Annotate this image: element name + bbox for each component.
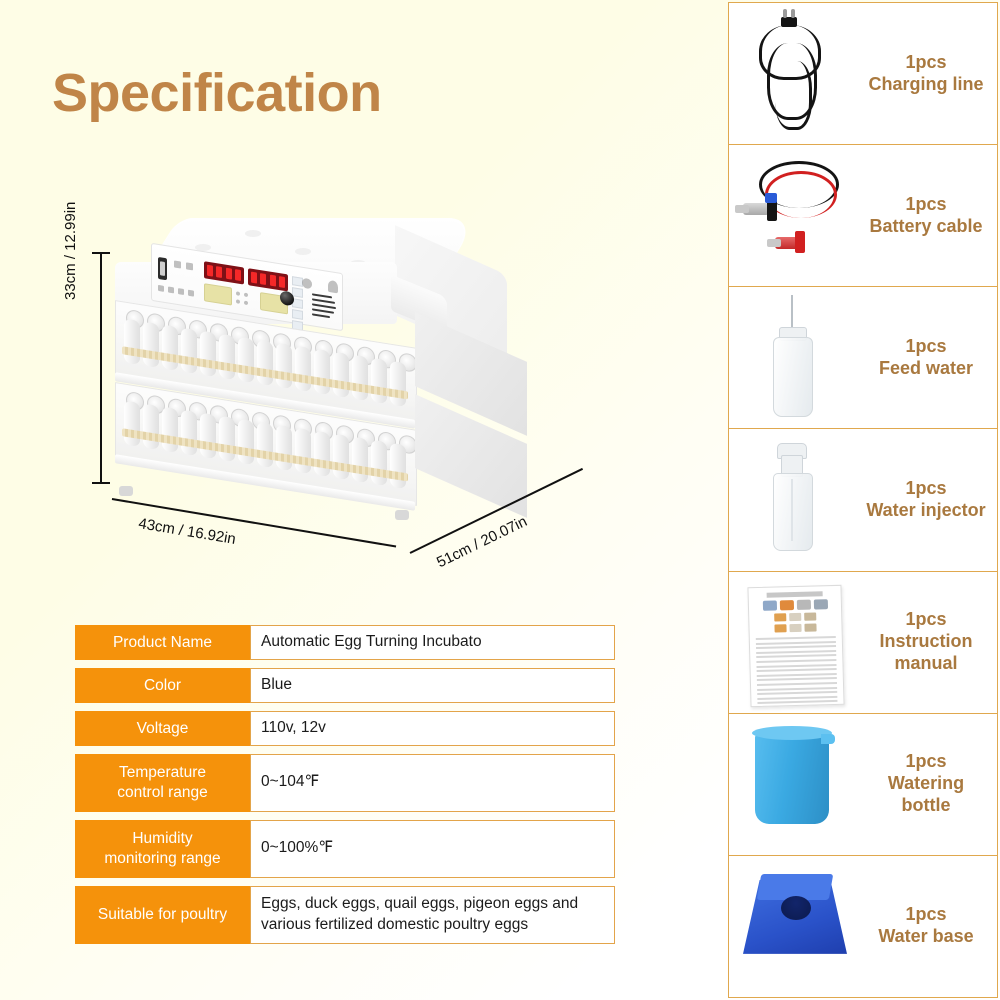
table-row: Product Name Automatic Egg Turning Incub… <box>75 625 615 660</box>
accessory-name: Feed water <box>879 358 973 378</box>
accessories-list: 1pcs Charging line 1pcs Battery cable <box>728 2 998 998</box>
accessory-qty: 1pcs <box>861 904 991 926</box>
specification-table: Product Name Automatic Egg Turning Incub… <box>75 625 615 952</box>
list-item: 1pcs Battery cable <box>729 145 997 287</box>
spray-bottle-icon <box>729 429 861 570</box>
left-panel: Specification <box>0 0 718 1000</box>
accessory-qty: 1pcs <box>861 336 991 358</box>
lid-bump <box>245 230 261 237</box>
spec-value: Blue <box>250 668 615 703</box>
indicator-led <box>236 291 240 296</box>
accessory-label: 1pcs Feed water <box>861 336 997 380</box>
certification-icon <box>158 285 164 292</box>
spec-value: 0~100%℉ <box>250 820 615 878</box>
list-item: 1pcs Instructionmanual <box>729 572 997 714</box>
accessory-name: Instructionmanual <box>880 631 973 673</box>
power-switch-icon[interactable] <box>158 257 167 280</box>
list-item: 1pcs Water injector <box>729 429 997 571</box>
certification-icon <box>186 262 193 270</box>
height-dimension-label: 33cm / 12.99in <box>62 202 79 300</box>
list-item: 1pcs Charging line <box>729 3 997 145</box>
certification-icon <box>168 286 174 293</box>
vent-grille-icon <box>312 293 336 323</box>
accessory-qty: 1pcs <box>861 478 991 500</box>
indicator-led <box>244 293 248 298</box>
spec-value: 110v, 12v <box>250 711 615 746</box>
leaf-icon <box>328 280 338 294</box>
temperature-setting-display <box>204 283 232 305</box>
table-row: Humiditymonitoring range 0~100%℉ <box>75 820 615 878</box>
accessory-name: Battery cable <box>869 216 982 236</box>
humidity-display <box>248 268 288 291</box>
certification-icon <box>188 290 194 297</box>
accessory-label: 1pcs Charging line <box>861 52 997 96</box>
manual-page-icon <box>729 572 861 713</box>
accessory-name: Water base <box>878 926 973 946</box>
spec-label: Humiditymonitoring range <box>75 820 250 878</box>
needle-bottle-icon <box>729 287 861 428</box>
accessory-name: Water injector <box>866 500 985 520</box>
incubator-foot <box>119 486 133 496</box>
accessory-label: 1pcs Water base <box>861 904 997 948</box>
spec-label: Suitable for poultry <box>75 886 250 944</box>
certification-icon <box>178 288 184 295</box>
table-row: Suitable for poultry Eggs, duck eggs, qu… <box>75 886 615 944</box>
blue-cup-icon <box>729 714 861 855</box>
warning-icon <box>174 260 181 268</box>
spec-label: Voltage <box>75 711 250 746</box>
accessory-label: 1pcs Instructionmanual <box>861 609 997 675</box>
accessory-label: 1pcs Watering bottle <box>861 751 997 817</box>
blue-base-icon <box>729 856 861 997</box>
accessory-name: Charging line <box>868 74 983 94</box>
specification-page: Specification <box>0 0 1000 1000</box>
indicator-led <box>244 301 248 306</box>
table-row: Temperaturecontrol range 0~104℉ <box>75 754 615 812</box>
accessory-qty: 1pcs <box>861 194 991 216</box>
spec-value: Eggs, duck eggs, quail eggs, pigeon eggs… <box>250 886 615 944</box>
accessory-qty: 1pcs <box>861 609 991 631</box>
accessory-name: Watering bottle <box>888 773 964 815</box>
list-item: 1pcs Water base <box>729 856 997 997</box>
spec-label: Color <box>75 668 250 703</box>
height-dimension-tick-bottom <box>92 482 110 484</box>
spec-value: Automatic Egg Turning Incubato <box>250 625 615 660</box>
accessory-qty: 1pcs <box>861 751 991 773</box>
incubator-foot <box>395 510 409 520</box>
accessory-label: 1pcs Water injector <box>861 478 997 522</box>
height-dimension-line <box>100 252 102 484</box>
height-dimension-tick-top <box>92 252 110 254</box>
battery-clamp-cable-icon <box>729 145 861 286</box>
setting-buttons[interactable] <box>292 276 301 332</box>
table-row: Color Blue <box>75 668 615 703</box>
list-item: 1pcs Feed water <box>729 287 997 429</box>
spec-value: 0~104℉ <box>250 754 615 812</box>
page-title: Specification <box>52 62 382 124</box>
temperature-display <box>204 261 244 284</box>
table-row: Voltage 110v, 12v <box>75 711 615 746</box>
indicator-led <box>236 299 240 304</box>
spec-label: Product Name <box>75 625 250 660</box>
accessory-label: 1pcs Battery cable <box>861 194 997 238</box>
list-item: 1pcs Watering bottle <box>729 714 997 856</box>
lid-bump <box>295 248 311 255</box>
power-cord-icon <box>729 3 861 144</box>
fan-icon <box>302 278 312 290</box>
spec-label: Temperaturecontrol range <box>75 754 250 812</box>
accessory-qty: 1pcs <box>861 52 991 74</box>
